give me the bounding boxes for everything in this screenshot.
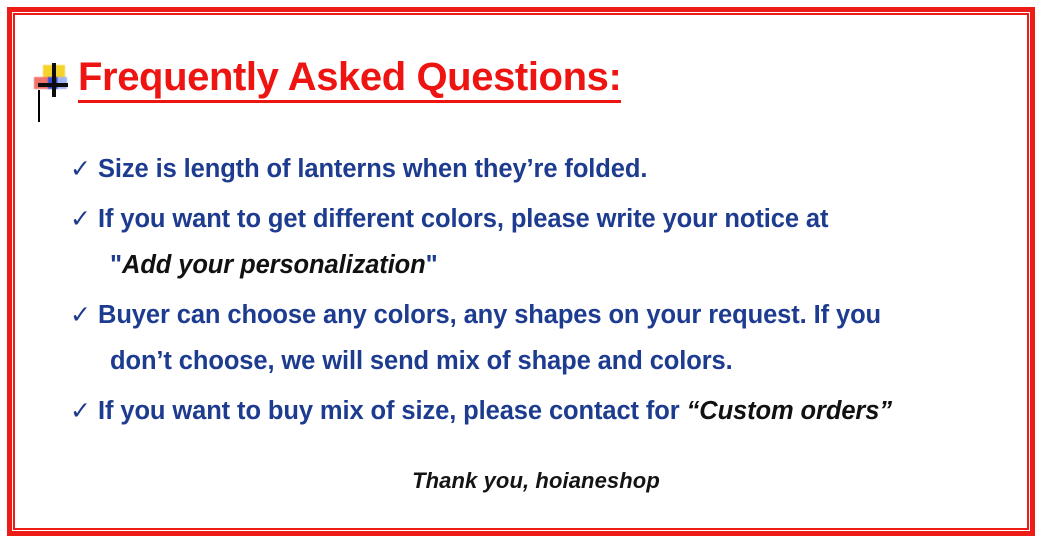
list-item: ✓ If you want to get different colors, p… (70, 196, 1020, 288)
list-item: ✓ Buyer can choose any colors, any shape… (70, 292, 1020, 384)
slide-content: Frequently Asked Questions: ✓ Size is le… (18, 18, 1024, 525)
list-item-line-1: Size is length of lanterns when they’re … (98, 155, 647, 183)
list-item-text: If you want to buy mix of size, please c… (98, 388, 1020, 434)
list-item-text: If you want to get different colors, ple… (98, 196, 1020, 288)
icon-cross-horizontal (38, 83, 68, 87)
emphasis-text: Add your personalization (122, 251, 426, 279)
title-row: Frequently Asked Questions: (34, 56, 621, 103)
list-item-line-1: Buyer can choose any colors, any shapes … (98, 301, 881, 329)
check-icon: ✓ (70, 196, 98, 242)
quote-close: " (426, 251, 438, 279)
emphasis-text: Custom orders (699, 397, 879, 425)
pivot-chart-icon (34, 63, 68, 97)
faq-bullet-list: ✓ Size is length of lanterns when they’r… (70, 146, 1020, 438)
list-item-text: Buyer can choose any colors, any shapes … (98, 292, 1020, 384)
check-icon: ✓ (70, 146, 98, 192)
list-item-line-2: don’t choose, we will send mix of shape … (98, 338, 1020, 384)
quote-open: " (110, 251, 122, 279)
list-item-emphasis-line: "Add your personalization" (98, 242, 1020, 288)
quote-open: “ (687, 397, 700, 425)
icon-cross-vertical (52, 63, 56, 97)
list-item: ✓ If you want to buy mix of size, please… (70, 388, 1020, 434)
list-item: ✓ Size is length of lanterns when they’r… (70, 146, 1020, 192)
check-icon: ✓ (70, 388, 98, 434)
check-icon: ✓ (70, 292, 98, 338)
list-item-line-1: If you want to get different colors, ple… (98, 205, 828, 233)
page-title: Frequently Asked Questions: (78, 56, 621, 103)
list-item-text: Size is length of lanterns when they’re … (98, 146, 1020, 192)
faq-slide: Frequently Asked Questions: ✓ Size is le… (0, 0, 1042, 543)
quote-close: ” (879, 397, 892, 425)
signature-text: Thank you, hoianeshop (18, 468, 1024, 494)
list-item-line-1: If you want to buy mix of size, please c… (98, 397, 687, 425)
